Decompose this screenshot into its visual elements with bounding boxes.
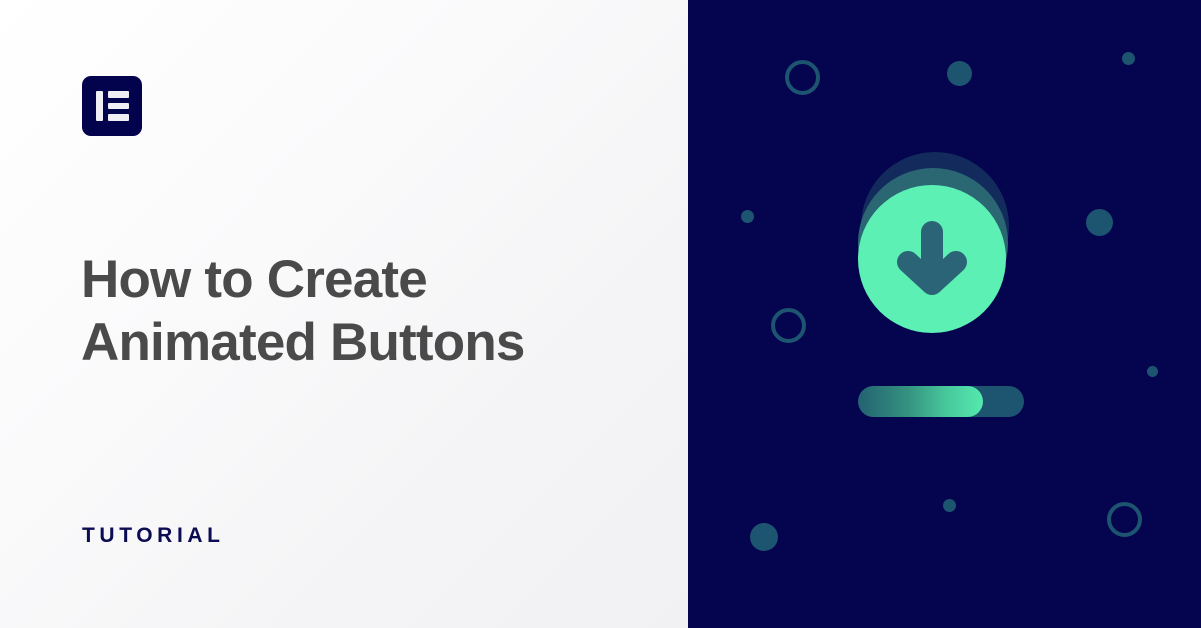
logo-bar-horizontal-2 [108,103,129,110]
deco-ring-2 [771,308,806,343]
illustration-panel [688,0,1201,628]
page-title-line-2: Animated Buttons [81,311,641,374]
deco-dot-5 [1147,366,1158,377]
logo-bar-vertical [96,91,103,121]
category-label: TUTORIAL [82,524,225,548]
download-progress-track [858,386,1024,417]
deco-dot-1 [947,61,972,86]
left-content-panel: How to Create Animated Buttons TUTORIAL [0,0,688,628]
deco-dot-2 [1122,52,1135,65]
deco-dot-4 [1086,209,1113,236]
deco-dot-3 [741,210,754,223]
download-progress-fill [858,386,983,417]
logo-bar-horizontal-3 [108,114,129,121]
deco-ring-1 [785,60,820,95]
logo-bar-horizontal-1 [108,91,129,98]
page-title: How to Create Animated Buttons [81,248,641,374]
deco-ring-3 [1107,502,1142,537]
elementor-logo-icon [82,76,142,136]
page-title-line-1: How to Create [81,248,641,311]
logo-bars-stack [108,91,129,121]
download-arrow-icon [858,152,1013,347]
arrow-down-glyph [892,216,972,302]
deco-dot-7 [750,523,778,551]
tutorial-card: How to Create Animated Buttons TUTORIAL [0,0,1201,628]
deco-dot-6 [943,499,956,512]
